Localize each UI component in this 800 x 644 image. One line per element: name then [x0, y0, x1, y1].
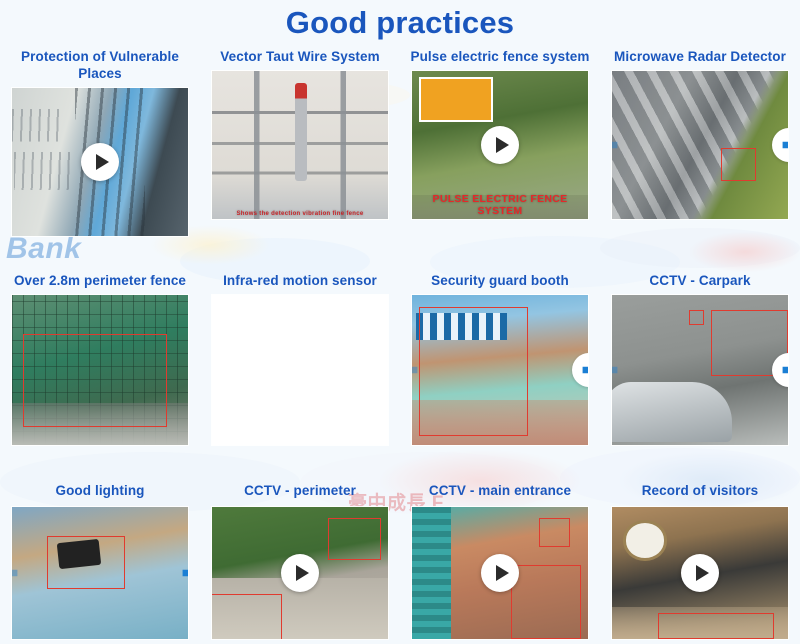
practice-card-cctv-main-entrance[interactable]: CCTV - main entrance: [400, 482, 600, 639]
arrow-left-icon[interactable]: [612, 128, 628, 162]
card-title: Protection of Vulnerable Places: [6, 48, 194, 82]
card-media[interactable]: [412, 295, 588, 445]
card-media[interactable]: [12, 507, 188, 639]
card-media[interactable]: [12, 295, 188, 445]
arrow-left-icon[interactable]: [12, 556, 28, 590]
card-title: Vector Taut Wire System: [206, 48, 394, 65]
card-title: Security guard booth: [406, 272, 594, 289]
practice-card-over-2-8m-perimeter-fence[interactable]: Over 2.8m perimeter fence: [0, 272, 200, 445]
card-media[interactable]: [412, 507, 588, 639]
card-title: Infra-red motion sensor: [206, 272, 394, 289]
card-media[interactable]: [212, 295, 388, 445]
good-practices-row-2: Over 2.8m perimeter fence Infra-red moti…: [0, 272, 800, 445]
card-media[interactable]: PULSE ELECTRIC FENCE SYSTEM: [412, 71, 588, 219]
card-title: Pulse electric fence system: [406, 48, 594, 65]
good-practices-row-3: Good lighting CCTV - perimeter: [0, 482, 800, 639]
good-practices-row-1: Protection of Vulnerable Places Vector T…: [0, 48, 800, 236]
practice-card-microwave-radar-detector[interactable]: Microwave Radar Detector: [600, 48, 800, 236]
practice-card-cctv-perimeter[interactable]: CCTV - perimeter: [200, 482, 400, 639]
card-media[interactable]: [612, 295, 788, 445]
card-title: Good lighting: [6, 482, 194, 499]
practice-card-pulse-electric-fence-system[interactable]: Pulse electric fence system PULSE ELECTR…: [400, 48, 600, 236]
card-title: CCTV - perimeter: [206, 482, 394, 499]
card-title: CCTV - Carpark: [606, 272, 794, 289]
card-media[interactable]: [612, 71, 788, 219]
play-icon[interactable]: [481, 126, 519, 164]
arrow-left-icon[interactable]: [412, 353, 428, 387]
arrow-right-icon[interactable]: [172, 556, 188, 590]
card-media[interactable]: [12, 88, 188, 236]
practice-card-cctv-carpark[interactable]: CCTV - Carpark: [600, 272, 800, 445]
play-icon[interactable]: [281, 554, 319, 592]
card-media[interactable]: Shows the detection vibration fine fence: [212, 71, 388, 219]
play-icon[interactable]: [81, 143, 119, 181]
practice-card-security-guard-booth[interactable]: Security guard booth: [400, 272, 600, 445]
arrow-left-icon[interactable]: [612, 353, 628, 387]
card-media[interactable]: [212, 507, 388, 639]
practice-card-good-lighting[interactable]: Good lighting: [0, 482, 200, 639]
watermark-bank: Bank: [6, 232, 81, 266]
practice-card-infra-red-motion-sensor[interactable]: Infra-red motion sensor: [200, 272, 400, 445]
media-caption: Shows the detection vibration fine fence: [212, 211, 388, 217]
play-icon[interactable]: [681, 554, 719, 592]
page-title: Good practices: [0, 0, 800, 43]
practice-card-protection-of-vulnerable-places[interactable]: Protection of Vulnerable Places: [0, 48, 200, 236]
practice-card-record-of-visitors[interactable]: Record of visitors: [600, 482, 800, 639]
play-icon[interactable]: [481, 554, 519, 592]
practice-card-vector-taut-wire-system[interactable]: Vector Taut Wire System Shows the detect…: [200, 48, 400, 236]
card-title: Over 2.8m perimeter fence: [6, 272, 194, 289]
card-title: Microwave Radar Detector: [606, 48, 794, 65]
card-title: CCTV - main entrance: [406, 482, 594, 499]
media-caption: PULSE ELECTRIC FENCE SYSTEM: [412, 193, 588, 217]
card-media[interactable]: [612, 507, 788, 639]
card-title: Record of visitors: [606, 482, 794, 499]
background-tint: [690, 232, 800, 272]
